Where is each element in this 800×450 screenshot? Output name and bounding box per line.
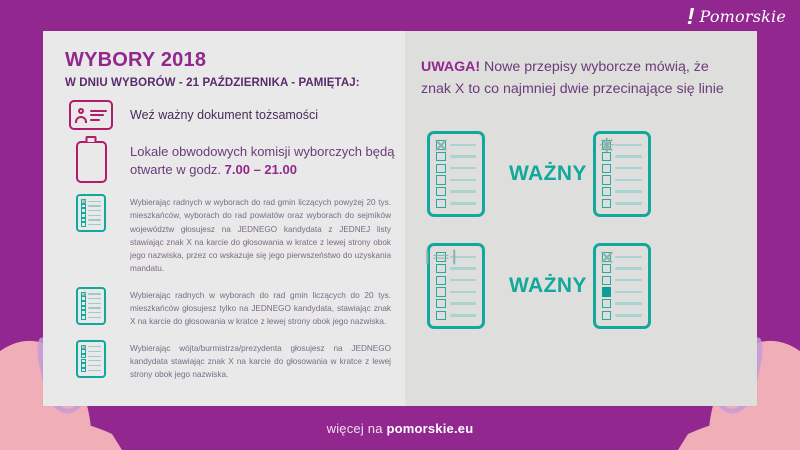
notice-text: UWAGA! Nowe przepisy wyborcze mówią, że … [421,57,733,100]
rule-item-1: Wybierając radnych w wyborach do rad gmi… [65,194,405,276]
pomorskie-logo: ! Pomorskie [687,5,786,28]
example-ballot-filled [587,243,733,329]
ballot-paper-icon [65,194,117,232]
ballot-with-hash-icon [427,243,485,329]
notice-highlight: UWAGA! [421,59,480,75]
rule-text-3: Wybierając wójta/burmistrza/prezydenta g… [130,340,405,382]
ballot-paper-icon [65,287,117,325]
reminder-opening-hours: Lokale obwodowych komisji wyborczych będ… [65,141,405,183]
page-subtitle: W DNIU WYBORÓW - 21 PAŹDZIERNIKA - PAMIĘ… [65,77,405,89]
opening-hours-text: Lokale obwodowych komisji wyborczych będ… [130,141,405,179]
rule-text-2: Wybierając radnych w wyborach do rad gmi… [130,287,405,329]
exclamation-mark-icon: ! [687,5,695,28]
ballot-paper-icon [65,340,117,378]
example-ballot-x: WAŻNY [421,131,587,217]
rule-item-3: Wybierając wójta/burmistrza/prezydenta g… [65,340,405,382]
example-ballot-asterisk [587,131,733,217]
id-card-icon [65,100,117,130]
ballot-with-filled-box-icon [593,243,651,329]
opening-hours-value: 7.00 – 21.00 [225,162,297,177]
ballot-box-icon [65,141,117,183]
page-title: WYBORY 2018 [65,49,405,72]
valid-label: WAŻNY [509,274,587,298]
info-card: WYBORY 2018 W DNIU WYBORÓW - 21 PAŹDZIER… [43,31,757,406]
examples-grid: WAŻNY [421,118,733,342]
footer: więcej na pomorskie.eu [0,421,800,436]
left-panel: WYBORY 2018 W DNIU WYBORÓW - 21 PAŹDZIER… [43,31,405,406]
footer-site[interactable]: pomorskie.eu [386,421,473,436]
infographic-canvas: ! Pomorskie WYBORY 2018 W DNIU WYBORÓW -… [0,0,800,450]
valid-label: WAŻNY [509,162,587,186]
rule-text-1: Wybierając radnych w wyborach do rad gmi… [130,194,405,276]
ballot-with-asterisk-icon [593,131,651,217]
footer-lead: więcej na [327,421,387,436]
id-document-text: Weź ważny dokument tożsamości [130,100,318,124]
ballot-with-x-icon [427,131,485,217]
logo-wordmark: Pomorskie [700,7,787,26]
example-ballot-hash: WAŻNY [421,243,587,329]
reminder-id-document: Weź ważny dokument tożsamości [65,100,405,130]
rule-item-2: Wybierając radnych w wyborach do rad gmi… [65,287,405,329]
right-panel: UWAGA! Nowe przepisy wyborcze mówią, że … [405,31,757,406]
